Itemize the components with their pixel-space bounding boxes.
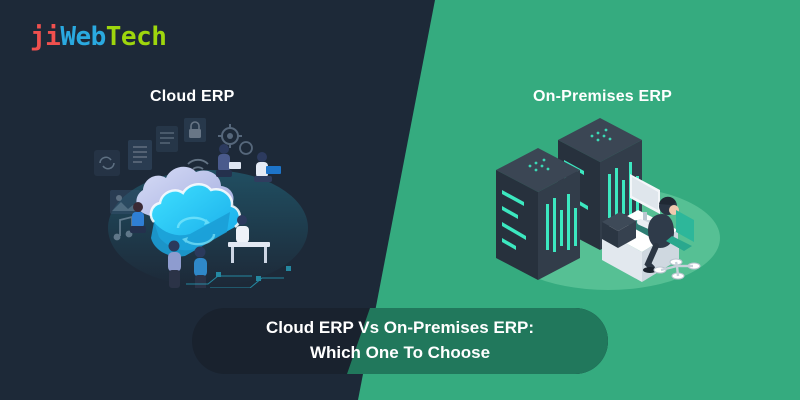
banner-line-two: Which One To Choose [310, 341, 490, 366]
hero-banner-image: jiWebTech Cloud ERP On-Premises ERP [0, 0, 800, 400]
logo-text-tech: Tech [106, 22, 167, 52]
person-standing-left [168, 241, 181, 289]
brand-logo[interactable]: jiWebTech [30, 24, 166, 50]
logo-text-web: Web [60, 22, 105, 52]
person-top-left [216, 144, 241, 177]
document-stack-icon [156, 126, 178, 152]
banner-line-one: Cloud ERP Vs On-Premises ERP: [266, 316, 534, 341]
sync-icon [94, 150, 120, 176]
heading-on-premises-erp: On-Premises ERP [533, 88, 672, 106]
lock-icon [184, 118, 206, 142]
heading-cloud-erp: Cloud ERP [150, 88, 234, 106]
person-top-right [254, 152, 281, 182]
on-premises-erp-illustration [480, 118, 720, 293]
cloud-erp-illustration [90, 118, 320, 288]
banner-text-block: Cloud ERP Vs On-Premises ERP: Which One … [192, 308, 608, 374]
logo-text-ji: ji [30, 22, 60, 52]
person-standing-right [194, 247, 207, 289]
title-banner: Cloud ERP Vs On-Premises ERP: Which One … [192, 308, 608, 374]
server-rack-front [496, 148, 580, 280]
document-icon [128, 140, 152, 170]
